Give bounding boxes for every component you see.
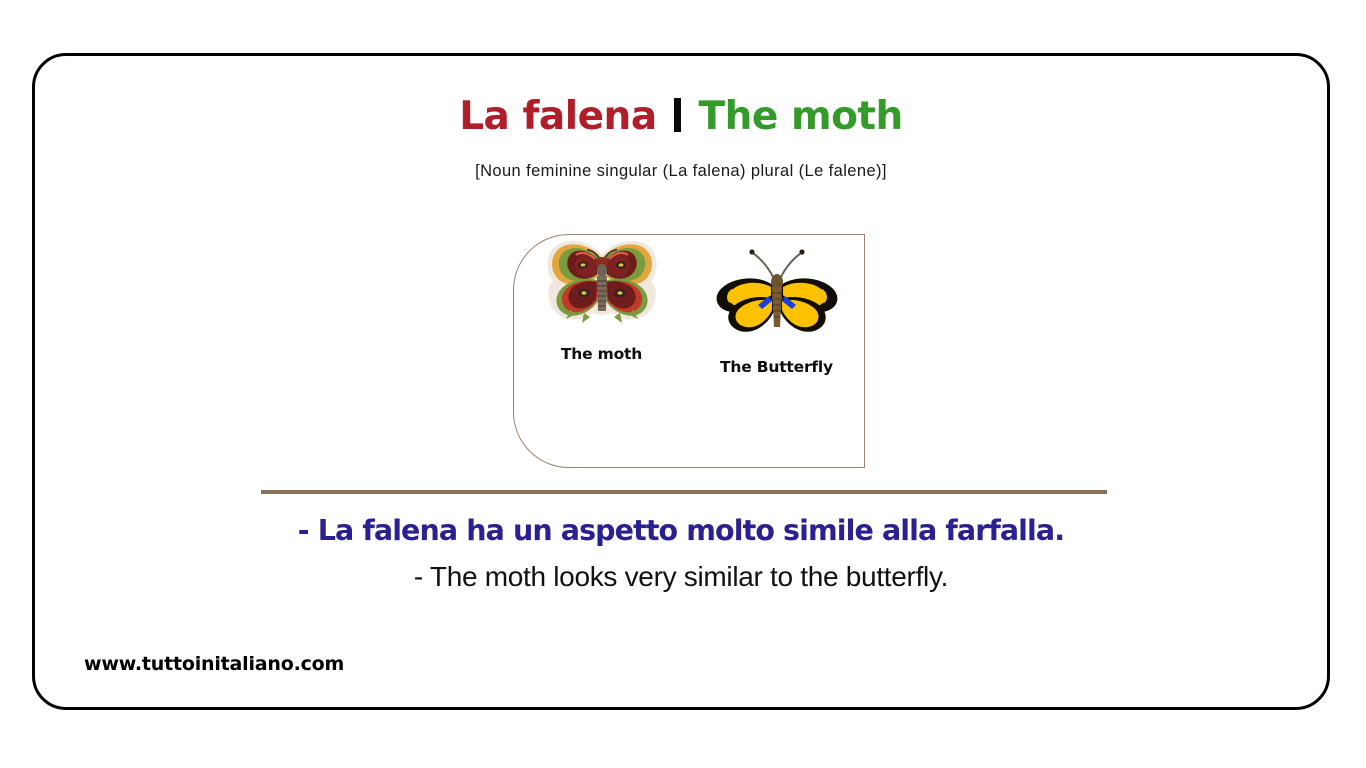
specimen-caption-butterfly: The Butterfly <box>689 358 864 376</box>
specimen-caption-moth: The moth <box>514 345 689 363</box>
grammar-note: [Noun feminine singular (La falena) plur… <box>35 162 1327 181</box>
illustration-row: The moth <box>514 235 864 467</box>
vocabulary-card: La falena The moth [Noun feminine singul… <box>32 53 1330 710</box>
specimen-moth: The moth <box>514 235 689 363</box>
site-url: www.tuttoinitaliano.com <box>84 653 344 675</box>
section-divider <box>261 490 1107 494</box>
title-english: The moth <box>699 94 903 139</box>
title-separator-bar <box>674 98 681 132</box>
example-sentence-italian: - La falena ha un aspetto molto simile a… <box>35 514 1327 547</box>
illustration-frame: The moth <box>513 234 865 468</box>
card-title-row: La falena The moth <box>35 97 1327 136</box>
specimen-butterfly: The Butterfly <box>689 235 864 376</box>
screenshot-root: La falena The moth [Noun feminine singul… <box>0 0 1366 768</box>
butterfly-illustration <box>709 235 845 345</box>
title-italian: La falena <box>459 94 656 139</box>
moth-illustration <box>539 235 665 327</box>
example-sentence-english: - The moth looks very similar to the but… <box>35 561 1327 593</box>
